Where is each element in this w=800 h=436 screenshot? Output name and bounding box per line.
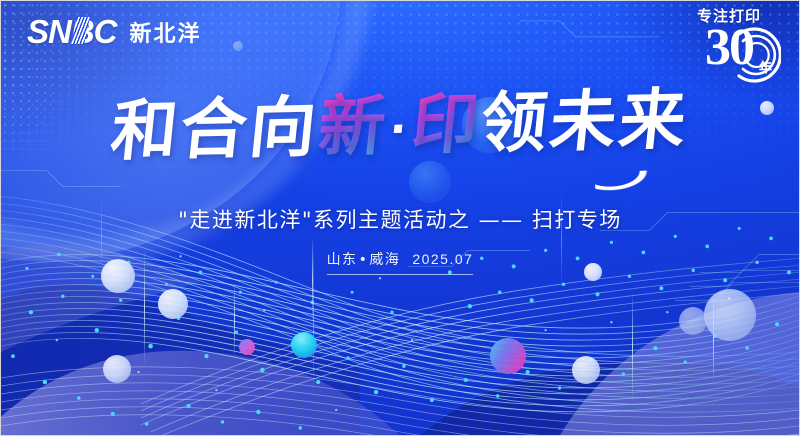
anniversary-badge-unit: 年 bbox=[759, 57, 772, 76]
sphere-blue-title-2 bbox=[409, 161, 451, 203]
hero-title: 和合向新·印领未来 bbox=[108, 87, 692, 165]
hero-title-part2: 领未来 bbox=[477, 81, 692, 162]
company-logo[interactable]: SNBC 新北洋 bbox=[27, 15, 202, 48]
sphere-white-2 bbox=[158, 289, 188, 319]
sphere-white-6 bbox=[704, 289, 756, 341]
logo-chinese-name: 新北洋 bbox=[130, 16, 202, 48]
sphere-white-7 bbox=[679, 307, 707, 335]
logo-wordmark-text: SNBC bbox=[27, 13, 117, 50]
sphere-blue-small bbox=[233, 41, 243, 51]
hero-location-province: 山东 bbox=[327, 252, 358, 268]
hero-title-part1: 和合向 bbox=[108, 89, 323, 170]
hero-title-accent-xin: 新 bbox=[315, 87, 392, 165]
hero-date: 2025.07 bbox=[412, 251, 473, 267]
sphere-white-5 bbox=[572, 356, 600, 384]
hero-title-accent-yin: 印 bbox=[408, 85, 485, 163]
light-beam-5 bbox=[632, 291, 633, 403]
sphere-pink-1 bbox=[239, 339, 255, 355]
hero-meta-inner: 山东•威海2025.07 bbox=[327, 249, 474, 275]
event-key-visual-banner: SNBC 新北洋 专注打印 30 年 和合向新·印领未来 "走进新北洋"系列主题… bbox=[0, 0, 800, 436]
hero-location-dot: • bbox=[358, 252, 370, 268]
anniversary-badge-number-group: 30 年 bbox=[677, 26, 781, 84]
hero-location-city: 威海 bbox=[369, 252, 400, 268]
hero-title-block: 和合向新·印领未来 bbox=[1, 93, 799, 159]
hero-subtitle: "走进新北洋"系列主题活动之 —— 扫打专场 bbox=[1, 204, 799, 234]
hero-meta-block: 山东•威海2025.07 bbox=[1, 249, 799, 275]
logo-wordmark: SNBC bbox=[27, 15, 117, 48]
sphere-pink-2 bbox=[490, 338, 526, 374]
sphere-cyan-1 bbox=[291, 332, 317, 358]
light-beam-2 bbox=[234, 281, 235, 359]
sphere-white-3 bbox=[103, 355, 131, 383]
anniversary-badge: 专注打印 30 年 bbox=[677, 9, 781, 91]
